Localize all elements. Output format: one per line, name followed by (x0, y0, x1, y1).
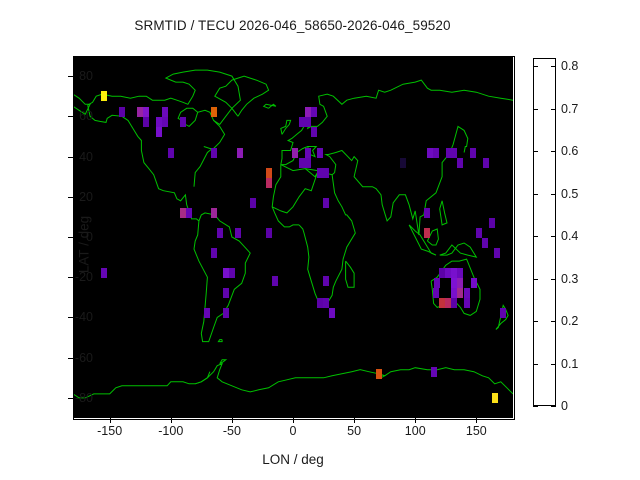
colorbar-tick-mark (533, 279, 538, 280)
heatmap-cell (211, 248, 217, 258)
y-axis-tick-label: -60 (75, 351, 93, 365)
colorbar-tick-label: 0.1 (561, 357, 578, 371)
y-axis-tick-label: -20 (75, 270, 93, 284)
heatmap-cell (211, 107, 217, 117)
heatmap-cell (471, 278, 477, 288)
heatmap-cell (266, 228, 272, 238)
heatmap-cell (211, 208, 217, 218)
colorbar-tick-mark (551, 236, 556, 237)
y-axis-tick-mark (68, 277, 73, 278)
heatmap-cell (464, 288, 470, 298)
heatmap-cell (431, 367, 437, 377)
colorbar-gradient (534, 59, 555, 405)
colorbar-tick-mark (551, 279, 556, 280)
heatmap-cell (323, 168, 329, 178)
heatmap-cell (311, 127, 317, 137)
x-axis-tick-mark (293, 418, 294, 423)
x-axis-tick-label: 0 (290, 424, 297, 438)
colorbar-tick-label: 0.8 (561, 59, 578, 73)
heatmap-cell (272, 276, 278, 286)
colorbar-tick-mark (551, 151, 556, 152)
heatmap-cell (433, 288, 439, 298)
heatmap-cell (376, 369, 382, 379)
heatmap-cell (305, 158, 311, 168)
x-axis-tick-label: 150 (466, 424, 487, 438)
heatmap-cell (500, 308, 506, 318)
heatmap-cells-layer (73, 56, 513, 418)
y-axis-tick-label: -80 (75, 391, 93, 405)
x-axis-tick-mark (232, 418, 233, 423)
x-axis-tick-label: 100 (405, 424, 426, 438)
plot-canvas: SRMTID / TECU 2026-046_58650-2026-046_59… (0, 0, 640, 480)
colorbar-tick-mark (551, 406, 556, 407)
heatmap-cell (424, 208, 430, 218)
heatmap-cell (323, 298, 329, 308)
colorbar-tick-mark (533, 321, 538, 322)
x-axis-tick-mark (171, 418, 172, 423)
heatmap-cell (186, 208, 192, 218)
heatmap-cell (217, 228, 223, 238)
heatmap-cell (266, 168, 272, 178)
y-axis-tick-mark (68, 197, 73, 198)
x-axis-tick-label: -150 (97, 424, 122, 438)
heatmap-cell (434, 278, 440, 288)
y-axis-tick-label: 0 (86, 230, 93, 244)
heatmap-cell (143, 107, 149, 117)
x-axis-tick-mark (415, 418, 416, 423)
y-axis-label: LAT / deg (77, 155, 92, 335)
colorbar-tick-label: 0.6 (561, 144, 578, 158)
heatmap-cell (101, 91, 107, 101)
heatmap-cell (494, 248, 500, 258)
colorbar-tick-mark (533, 109, 538, 110)
heatmap-cell (476, 228, 482, 238)
y-axis-tick-mark (68, 76, 73, 77)
y-axis-tick-label: 20 (79, 190, 93, 204)
colorbar-tick-mark (533, 406, 538, 407)
y-axis-tick-mark (68, 237, 73, 238)
heatmap-cell (311, 107, 317, 117)
x-axis-label: LON / deg (73, 452, 513, 467)
heatmap-cell (489, 218, 495, 228)
heatmap-cell (323, 276, 329, 286)
heatmap-cell (470, 148, 476, 158)
heatmap-cell (424, 228, 430, 238)
heatmap-cell (223, 308, 229, 318)
heatmap-cell (457, 268, 463, 278)
heatmap-cell (305, 148, 311, 158)
heatmap-cell (305, 117, 311, 127)
heatmap-cell (400, 158, 406, 168)
heatmap-cell (223, 288, 229, 298)
y-axis-tick-mark (68, 358, 73, 359)
chart-title: SRMTID / TECU 2026-046_58650-2026-046_59… (0, 18, 585, 33)
colorbar-tick-label: 0.7 (561, 102, 578, 116)
y-axis-tick-label: 40 (79, 150, 93, 164)
map-plot-area (73, 56, 513, 418)
heatmap-cell (451, 298, 457, 308)
heatmap-cell (492, 393, 498, 403)
y-axis-tick-mark (68, 116, 73, 117)
heatmap-cell (237, 148, 243, 158)
heatmap-cell (292, 148, 298, 158)
heatmap-cell (483, 158, 489, 168)
y-axis-tick-mark (68, 398, 73, 399)
colorbar-tick-label: 0.5 (561, 187, 578, 201)
x-axis-tick-mark (476, 418, 477, 423)
heatmap-cell (323, 198, 329, 208)
y-axis-tick-label: -40 (75, 310, 93, 324)
heatmap-cell (204, 308, 210, 318)
heatmap-cell (162, 107, 168, 117)
colorbar-tick-label: 0 (561, 399, 568, 413)
x-axis-tick-mark (110, 418, 111, 423)
x-axis-tick-mark (354, 418, 355, 423)
colorbar-tick-mark (551, 321, 556, 322)
colorbar-tick-mark (533, 66, 538, 67)
heatmap-cell (101, 268, 107, 278)
heatmap-cell (317, 148, 323, 158)
heatmap-cell (162, 117, 168, 127)
colorbar (533, 58, 556, 406)
heatmap-cell (143, 117, 149, 127)
colorbar-tick-mark (533, 236, 538, 237)
colorbar-tick-mark (551, 364, 556, 365)
heatmap-cell (433, 148, 439, 158)
heatmap-cell (451, 148, 457, 158)
x-axis-tick-label: -50 (223, 424, 241, 438)
colorbar-tick-label: 0.3 (561, 272, 578, 286)
heatmap-cell (266, 178, 272, 188)
heatmap-cell (168, 148, 174, 158)
colorbar-tick-mark (551, 109, 556, 110)
y-axis-tick-mark (68, 317, 73, 318)
y-axis-tick-label: 60 (79, 109, 93, 123)
heatmap-cell (464, 298, 470, 308)
colorbar-tick-mark (533, 151, 538, 152)
heatmap-cell (329, 308, 335, 318)
heatmap-cell (119, 107, 125, 117)
heatmap-cell (235, 228, 241, 238)
x-axis-tick-label: 50 (347, 424, 361, 438)
heatmap-cell (250, 198, 256, 208)
colorbar-tick-label: 0.2 (561, 314, 578, 328)
heatmap-cell (229, 268, 235, 278)
heatmap-cell (211, 148, 217, 158)
y-axis-tick-mark (68, 157, 73, 158)
colorbar-tick-label: 0.4 (561, 229, 578, 243)
heatmap-cell (457, 278, 463, 288)
heatmap-cell (156, 127, 162, 137)
colorbar-tick-mark (551, 194, 556, 195)
y-axis-tick-label: 80 (79, 69, 93, 83)
colorbar-tick-mark (533, 194, 538, 195)
colorbar-tick-mark (533, 364, 538, 365)
heatmap-cell (482, 238, 488, 248)
heatmap-cell (457, 158, 463, 168)
colorbar-tick-mark (551, 66, 556, 67)
x-axis-tick-label: -100 (158, 424, 183, 438)
heatmap-cell (180, 117, 186, 127)
